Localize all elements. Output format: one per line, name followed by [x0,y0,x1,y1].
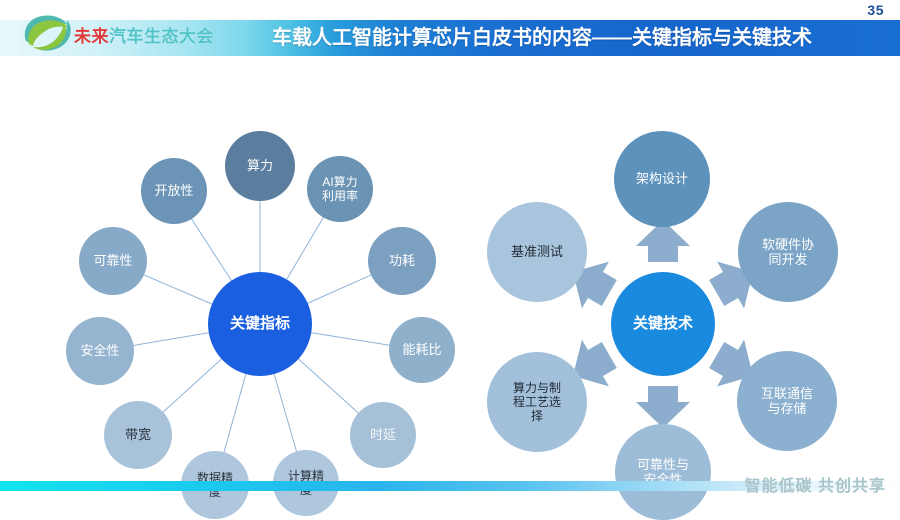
technology-node-5[interactable]: 算力与制程工艺选择 [487,352,587,452]
indicator-node-11[interactable]: 开放性 [141,158,207,224]
swoosh-leaf-logo-icon [18,11,76,53]
indicator-node-8[interactable]: 带宽 [104,401,172,469]
node-label: 软硬件协同开发 [758,237,818,268]
spoke-line-3 [306,274,372,304]
spoke-line-2 [286,217,325,281]
spoke-line-11 [191,218,233,282]
spoke-line-1 [260,201,261,274]
hub-key-technologies[interactable]: 关键技术 [611,272,715,376]
conference-logo: 未来汽车生态大会 [18,11,268,53]
spoke-line-6 [274,373,298,453]
node-label: 基准测试 [507,244,567,259]
indicator-node-10[interactable]: 可靠性 [79,227,147,295]
indicator-node-2[interactable]: AI算力利用率 [307,156,373,222]
indicator-node-1[interactable]: 算力 [225,131,295,201]
technology-node-3[interactable]: 互联通信与存储 [737,351,837,451]
indicator-node-9[interactable]: 安全性 [66,317,134,385]
technology-node-1[interactable]: 架构设计 [614,131,710,227]
technology-node-6[interactable]: 基准测试 [487,202,587,302]
key-technologies-diagram: 架构设计软硬件协同开发互联通信与存储可靠性与安全性算力与制程工艺选择基准测试 关… [455,56,900,466]
footer-slogan: 智能低碳 共创共享 [745,472,886,496]
indicator-node-5[interactable]: 时延 [350,402,416,468]
technology-node-4[interactable]: 可靠性与安全性 [615,424,711,520]
indicator-node-4[interactable]: 能耗比 [389,317,455,383]
node-label: 功耗 [385,253,419,268]
arrow-down-icon [636,386,690,428]
node-label: AI算力利用率 [318,175,362,203]
node-label: 能耗比 [398,342,445,357]
hub-label: 关键指标 [226,315,294,333]
node-label: 算力 [243,158,277,173]
spoke-line-8 [162,358,223,413]
key-indicators-diagram: 算力AI算力利用率功耗能耗比时延计算精度数据精度带宽安全性可靠性开放性 关键指标 [10,56,460,466]
node-label: 互联通信与存储 [757,386,817,417]
page-title: 车载人工智能计算芯片白皮书的内容——关键指标与关键技术 [272,21,812,55]
node-label: 可靠性 [89,253,136,268]
node-label: 架构设计 [632,171,692,186]
logo-text: 未来汽车生态大会 [74,22,214,47]
spoke-line-7 [223,373,246,453]
logo-text-accent: 未来 [74,27,109,46]
hub-label: 关键技术 [629,315,697,333]
node-label: 带宽 [121,427,155,442]
spoke-line-9 [132,332,209,346]
spoke-line-4 [310,332,390,346]
technology-node-2[interactable]: 软硬件协同开发 [738,202,838,302]
logo-text-rest: 汽车生态大会 [109,27,214,46]
node-label: 安全性 [76,343,123,358]
page-number: 35 [867,2,884,18]
indicator-node-3[interactable]: 功耗 [368,227,436,295]
node-label: 算力与制程工艺选择 [509,381,565,423]
hub-key-indicators[interactable]: 关键指标 [208,272,312,376]
node-label: 时延 [366,427,400,442]
spoke-line-10 [143,274,213,305]
node-label: 开放性 [150,183,197,198]
spoke-line-5 [298,358,360,414]
